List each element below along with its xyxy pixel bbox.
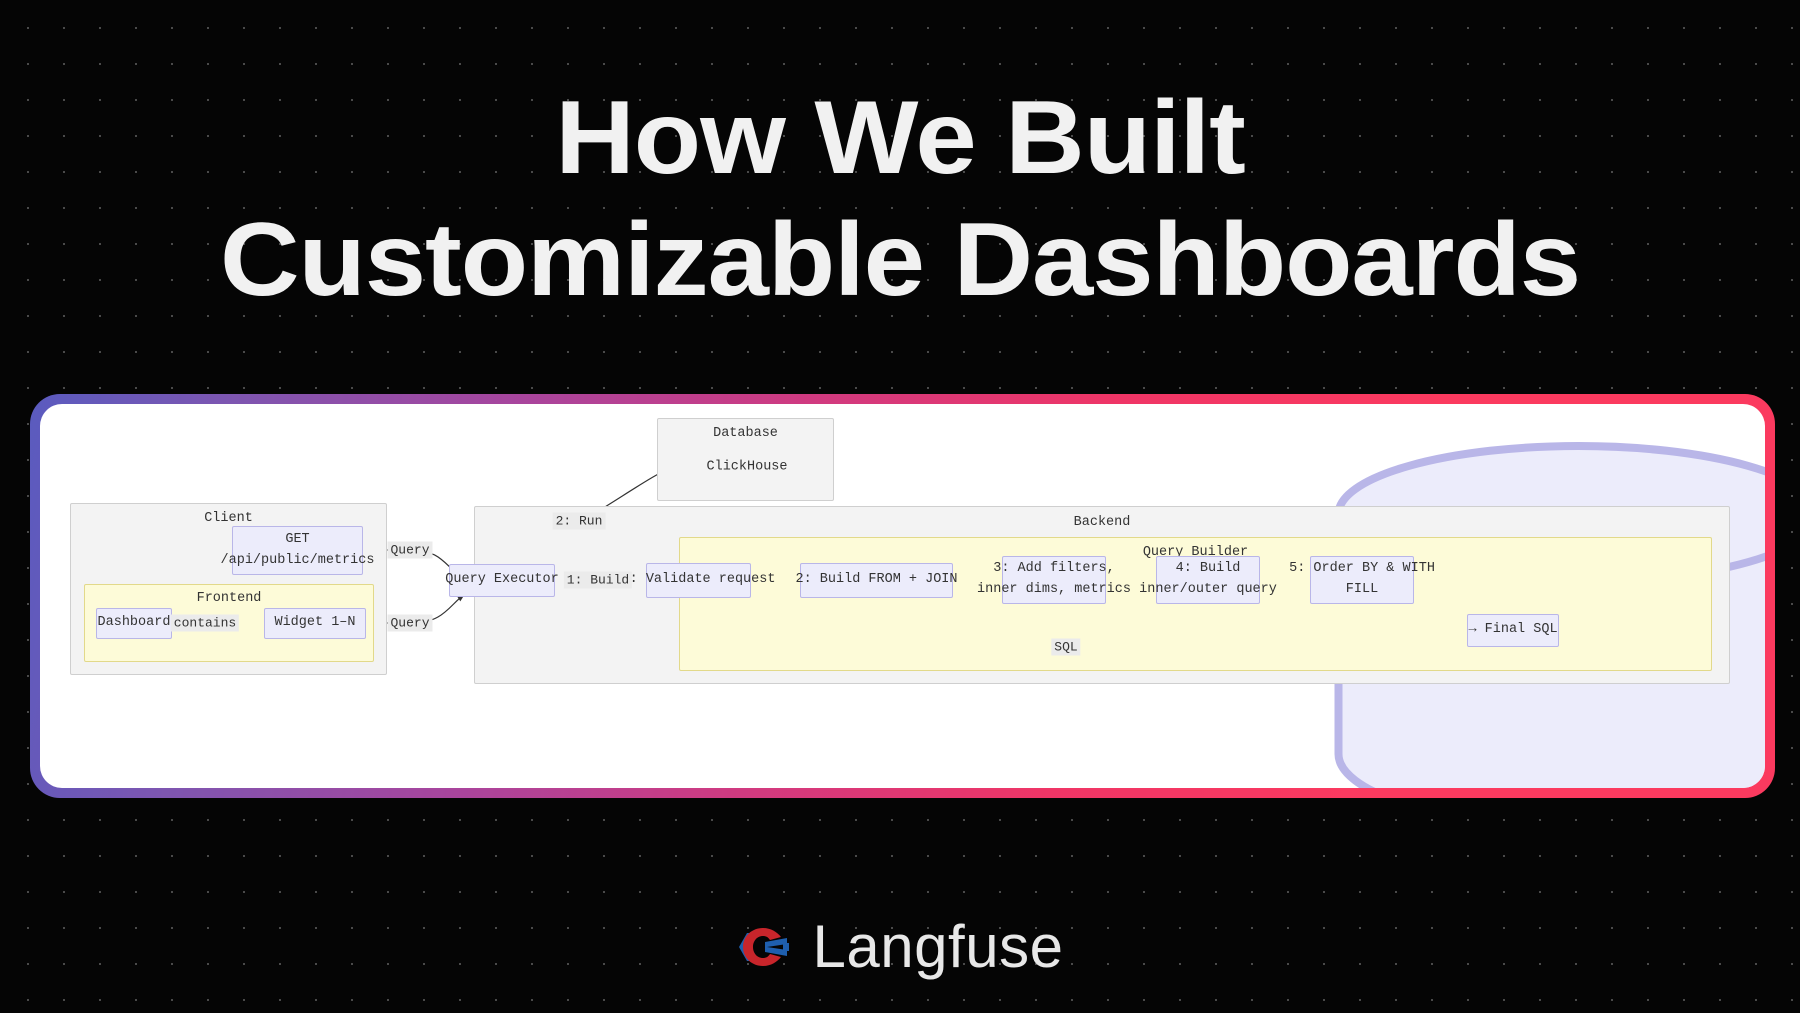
group-client-label: Client <box>71 511 386 526</box>
page-title-line-2: Customizable Dashboards <box>0 208 1800 312</box>
node-step-1-label: 1: Validate request <box>622 570 776 591</box>
node-step-3-line-2: inner dims, metrics <box>977 580 1131 601</box>
edge-label-run: 2: Run <box>553 513 606 530</box>
node-step-4-line-2: inner/outer query <box>1139 580 1277 601</box>
node-query-executor-label: Query Executor <box>445 570 558 591</box>
edge-label-query-bottom: Query <box>387 615 432 632</box>
diagram-card-frame: Client Frontend GET /api/public/metrics … <box>30 394 1775 798</box>
node-step-4-line-1: 4: Build <box>1176 559 1241 580</box>
langfuse-logo-icon <box>737 923 791 971</box>
node-dashboard[interactable]: Dashboard <box>96 608 172 639</box>
node-step-1[interactable]: 1: Validate request <box>646 563 751 598</box>
group-frontend-label: Frontend <box>85 591 373 606</box>
node-step-3-line-1: 3: Add filters, <box>993 559 1115 580</box>
architecture-diagram: Client Frontend GET /api/public/metrics … <box>40 404 1765 788</box>
page-title: How We Built Customizable Dashboards <box>0 86 1800 312</box>
node-get-endpoint[interactable]: GET /api/public/metrics <box>232 526 363 575</box>
group-database-label: Database <box>658 426 833 441</box>
node-widget[interactable]: Widget 1–N <box>264 608 366 639</box>
node-step-5-line-1: 5: Order BY & WITH <box>1289 559 1435 580</box>
diagram-card-surface: Client Frontend GET /api/public/metrics … <box>40 404 1765 788</box>
edge-label-query-top: Query <box>387 542 432 559</box>
node-dashboard-label: Dashboard <box>98 613 171 634</box>
edge-label-contains: contains <box>171 615 239 632</box>
node-widget-label: Widget 1–N <box>274 613 355 634</box>
node-step-3[interactable]: 3: Add filters, inner dims, metrics <box>1002 556 1106 604</box>
edge-label-build: 1: Build <box>564 572 632 589</box>
edge-label-sql-return: SQL <box>1051 639 1080 656</box>
node-step-5[interactable]: 5: Order BY & WITH FILL <box>1310 556 1414 604</box>
group-backend-label: Backend <box>475 515 1729 530</box>
node-clickhouse-label: ClickHouse <box>706 459 787 474</box>
node-get-endpoint-line-2: /api/public/metrics <box>221 551 375 572</box>
node-final-sql[interactable]: → Final SQL <box>1467 614 1559 647</box>
node-query-executor[interactable]: Query Executor <box>449 564 555 597</box>
node-clickhouse[interactable]: ClickHouse <box>716 442 778 490</box>
footer-brand: Langfuse <box>0 912 1800 981</box>
brand-name: Langfuse <box>813 912 1064 981</box>
node-get-endpoint-line-1: GET <box>285 530 309 551</box>
node-step-5-line-2: FILL <box>1346 580 1378 601</box>
node-step-4[interactable]: 4: Build inner/outer query <box>1156 556 1260 604</box>
node-step-2[interactable]: 2: Build FROM + JOIN <box>800 563 953 598</box>
node-step-2-label: 2: Build FROM + JOIN <box>795 570 957 591</box>
page-title-line-1: How We Built <box>0 86 1800 190</box>
node-final-sql-label: → Final SQL <box>1468 620 1557 641</box>
